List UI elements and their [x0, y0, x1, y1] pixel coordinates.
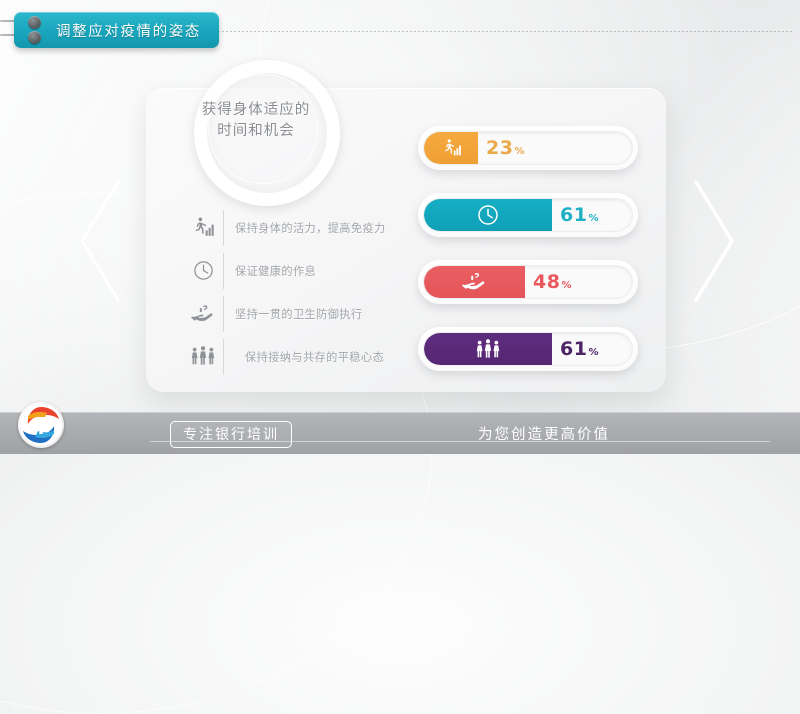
list-item-divider	[223, 210, 224, 246]
progress-bar-row[interactable]: 61%	[418, 193, 638, 237]
progress-value: 61%	[560, 338, 599, 360]
title-plate: 调整应对疫情的姿态	[14, 12, 219, 48]
progress-bar-row[interactable]: 48%	[418, 260, 638, 304]
clock-icon	[186, 256, 220, 286]
list-item-label: 保持接纳与共存的平稳心态	[235, 349, 384, 365]
list-item-label: 保证健康的作息	[235, 263, 316, 279]
progress-value: 23%	[486, 137, 525, 159]
list-item-divider	[223, 339, 224, 375]
clock-icon	[476, 203, 500, 227]
list-item-divider	[223, 296, 224, 332]
circle-heading-line-2: 时间和机会	[176, 121, 336, 142]
list-item[interactable]: 保持接纳与共存的平稳心态	[186, 335, 401, 378]
running-person-chart-icon	[186, 213, 220, 243]
percent-unit: %	[561, 280, 572, 291]
progress-track-inner	[423, 198, 633, 232]
circle-heading: 获得身体适应的 时间和机会	[176, 100, 336, 142]
percent-unit: %	[514, 146, 525, 157]
progress-bar-group: 23% 61%	[418, 126, 638, 394]
list-item[interactable]: 保持身体的活力，提高免疫力	[186, 206, 401, 249]
hand-wash-icon	[461, 271, 488, 293]
percent-unit: %	[588, 213, 599, 224]
list-item-label: 保持身体的活力，提高免疫力	[235, 220, 386, 236]
feature-list: 保持身体的活力，提高免疫力 保证健康的作息 坚持一贯的卫生防御执行	[186, 206, 401, 378]
people-group-icon	[186, 342, 220, 372]
chevron-right-icon	[688, 178, 740, 304]
binder-ring-icon-1	[28, 16, 41, 29]
list-item-label: 坚持一贯的卫生防御执行	[235, 306, 362, 322]
progress-bar-row[interactable]: 61%	[418, 327, 638, 371]
footer-badge: 专注银行培训	[170, 421, 292, 448]
progress-track-inner	[423, 332, 633, 366]
people-group-icon	[475, 338, 501, 361]
title-dotted-rule	[210, 31, 794, 32]
hand-wash-icon	[186, 299, 220, 329]
progress-bar-row[interactable]: 23%	[418, 126, 638, 170]
list-item-divider	[223, 253, 224, 289]
page-title: 调整应对疫情的姿态	[56, 20, 201, 41]
progress-fill	[424, 333, 552, 365]
running-person-chart-icon	[441, 138, 462, 159]
binder-ring-icon-2	[28, 31, 41, 44]
footer-bar: 专注银行培训 为您创造更高价值	[0, 412, 800, 454]
progress-number: 61	[560, 204, 587, 226]
progress-fill	[424, 266, 525, 298]
list-item[interactable]: 坚持一贯的卫生防御执行	[186, 292, 401, 335]
progress-number: 48	[533, 271, 560, 293]
progress-number: 23	[486, 137, 513, 159]
footer-tagline: 为您创造更高价值	[478, 423, 610, 444]
progress-fill	[424, 132, 478, 164]
progress-number: 61	[560, 338, 587, 360]
circle-heading-line-1: 获得身体适应的	[176, 100, 336, 121]
prev-slide-button[interactable]	[74, 178, 126, 304]
progress-value: 48%	[533, 271, 572, 293]
next-slide-button[interactable]	[688, 178, 740, 304]
slide-title-banner: 调整应对疫情的姿态	[14, 12, 219, 48]
progress-track-inner	[423, 131, 633, 165]
progress-fill	[424, 199, 552, 231]
progress-value: 61%	[560, 204, 599, 226]
percent-unit: %	[588, 347, 599, 358]
company-logo	[18, 402, 64, 448]
progress-track-inner	[423, 265, 633, 299]
chevron-left-icon	[74, 178, 126, 304]
list-item[interactable]: 保证健康的作息	[186, 249, 401, 292]
